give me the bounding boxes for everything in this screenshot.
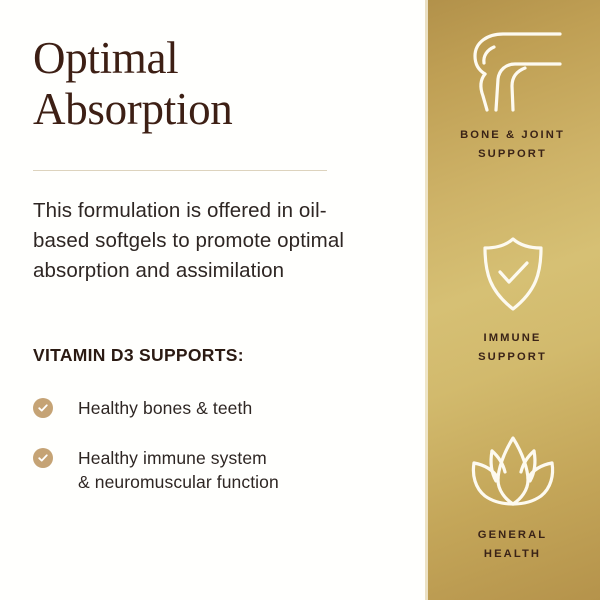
supports-heading: VITAMIN D3 SUPPORTS: <box>33 345 244 366</box>
left-content-panel: Optimal Absorption This formulation is o… <box>0 0 425 600</box>
knee-joint-icon <box>425 30 600 112</box>
list-item-label: Healthy bones & teeth <box>78 396 252 420</box>
product-feature-panel: Optimal Absorption This formulation is o… <box>0 0 600 600</box>
list-item: Healthy immune system & neuromuscular fu… <box>33 446 373 494</box>
list-item: Healthy bones & teeth <box>33 396 373 420</box>
title-divider <box>33 170 327 171</box>
list-item-label-line-2: & neuromuscular function <box>78 472 279 492</box>
page-title-line-1: Optimal <box>33 33 178 83</box>
feature-bone-joint: BONE & JOINT SUPPORT <box>425 30 600 164</box>
lotus-flower-icon <box>425 430 600 512</box>
features-sidebar: BONE & JOINT SUPPORT IMMUNE SUPPORT <box>425 0 600 600</box>
feature-label-line-2: HEALTH <box>425 545 600 564</box>
list-item-label: Healthy immune system & neuromuscular fu… <box>78 446 279 494</box>
check-circle-icon <box>33 448 53 468</box>
benefits-list: Healthy bones & teeth Healthy immune sys… <box>33 396 373 520</box>
feature-label-line-1: BONE & JOINT <box>425 126 600 145</box>
feature-label: BONE & JOINT SUPPORT <box>425 126 600 164</box>
feature-label-line-1: IMMUNE <box>425 329 600 348</box>
check-circle-icon <box>33 398 53 418</box>
shield-check-icon <box>425 233 600 315</box>
feature-general-health: GENERAL HEALTH <box>425 430 600 564</box>
intro-paragraph: This formulation is offered in oil-based… <box>33 196 363 286</box>
feature-label: GENERAL HEALTH <box>425 526 600 564</box>
feature-label: IMMUNE SUPPORT <box>425 329 600 367</box>
page-title: Optimal Absorption <box>33 33 373 135</box>
feature-label-line-2: SUPPORT <box>425 145 600 164</box>
feature-label-line-1: GENERAL <box>425 526 600 545</box>
feature-label-line-2: SUPPORT <box>425 348 600 367</box>
feature-immune: IMMUNE SUPPORT <box>425 233 600 367</box>
list-item-label-line-1: Healthy immune system <box>78 448 267 468</box>
page-title-line-2: Absorption <box>33 84 373 135</box>
